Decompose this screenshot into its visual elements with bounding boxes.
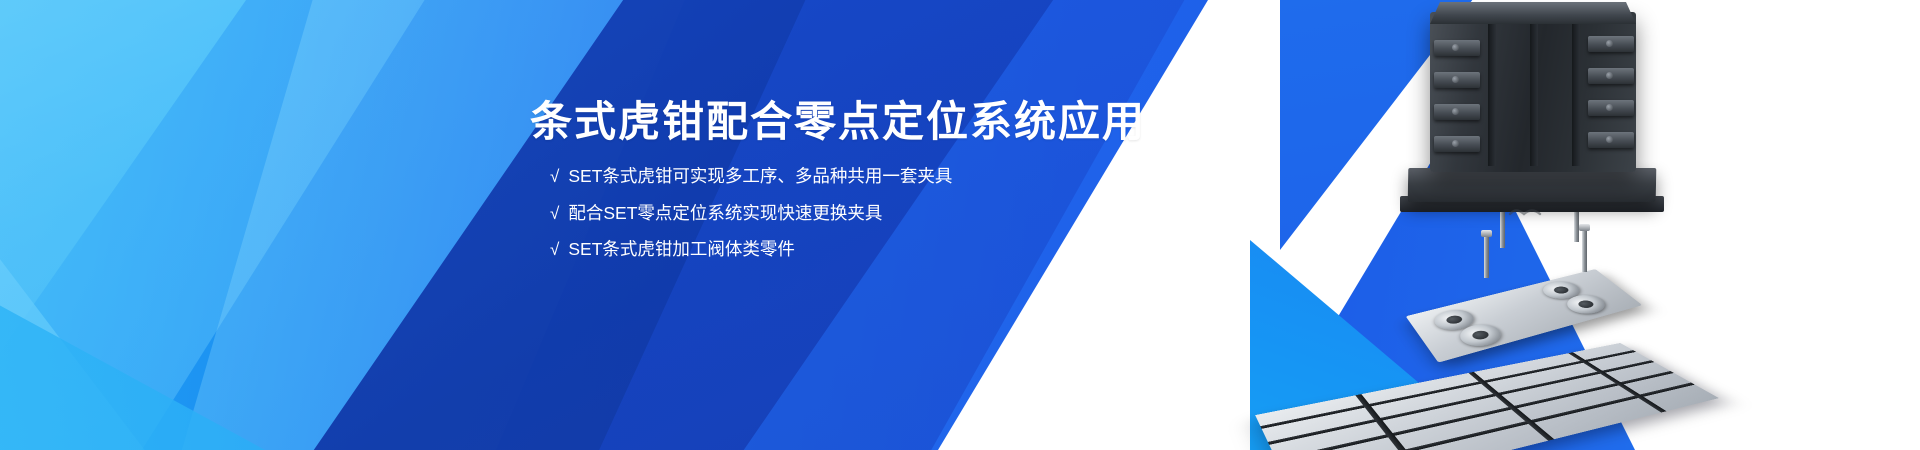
product-render	[1282, 0, 1802, 450]
list-item-label: SET条式虎钳可实现多工序、多品种共用一套夹具	[568, 168, 952, 186]
clamping-stud	[1582, 230, 1587, 272]
tombstone-column-top	[1430, 2, 1636, 24]
check-icon: √	[550, 241, 559, 258]
banner-text-block: 条式虎钳配合零点定位系统应用 √ SET条式虎钳可实现多工序、多品种共用一套夹具…	[530, 98, 1090, 259]
vise-bolt	[1606, 72, 1613, 79]
check-icon: √	[550, 205, 559, 222]
slotted-machine-table	[1255, 343, 1719, 450]
column-groove	[1572, 20, 1580, 166]
table-slot	[1260, 350, 1636, 429]
list-item: √ SET条式虎钳可实现多工序、多品种共用一套夹具	[550, 168, 1090, 186]
promo-banner: 条式虎钳配合零点定位系统应用 √ SET条式虎钳可实现多工序、多品种共用一套夹具…	[0, 0, 1920, 450]
vise-bolt	[1606, 136, 1613, 143]
vise-bolt	[1606, 104, 1613, 111]
product-logo-icon	[1506, 206, 1562, 218]
banner-title: 条式虎钳配合零点定位系统应用	[530, 98, 1090, 146]
column-groove	[1488, 20, 1496, 166]
stud-head	[1579, 224, 1590, 231]
list-item: √ 配合SET零点定位系统实现快速更换夹具	[550, 205, 1090, 223]
vise-bolt	[1452, 108, 1459, 115]
list-item-label: 配合SET零点定位系统实现快速更换夹具	[568, 205, 882, 223]
base-riser-plate	[1408, 168, 1657, 202]
check-icon: √	[550, 168, 559, 185]
vise-bolt	[1452, 76, 1459, 83]
vise-bolt	[1606, 40, 1613, 47]
vise-bolt	[1452, 140, 1459, 147]
stud-head	[1481, 230, 1492, 237]
table-slot	[1268, 360, 1655, 445]
vise-bolt	[1452, 44, 1459, 51]
list-item: √ SET条式虎钳加工阀体类零件	[550, 241, 1090, 259]
clamping-stud	[1500, 206, 1505, 248]
clamping-stud	[1484, 236, 1489, 278]
banner-bullet-list: √ SET条式虎钳可实现多工序、多品种共用一套夹具 √ 配合SET零点定位系统实…	[530, 168, 1090, 259]
list-item-label: SET条式虎钳加工阀体类零件	[568, 241, 795, 259]
column-groove	[1530, 20, 1538, 166]
